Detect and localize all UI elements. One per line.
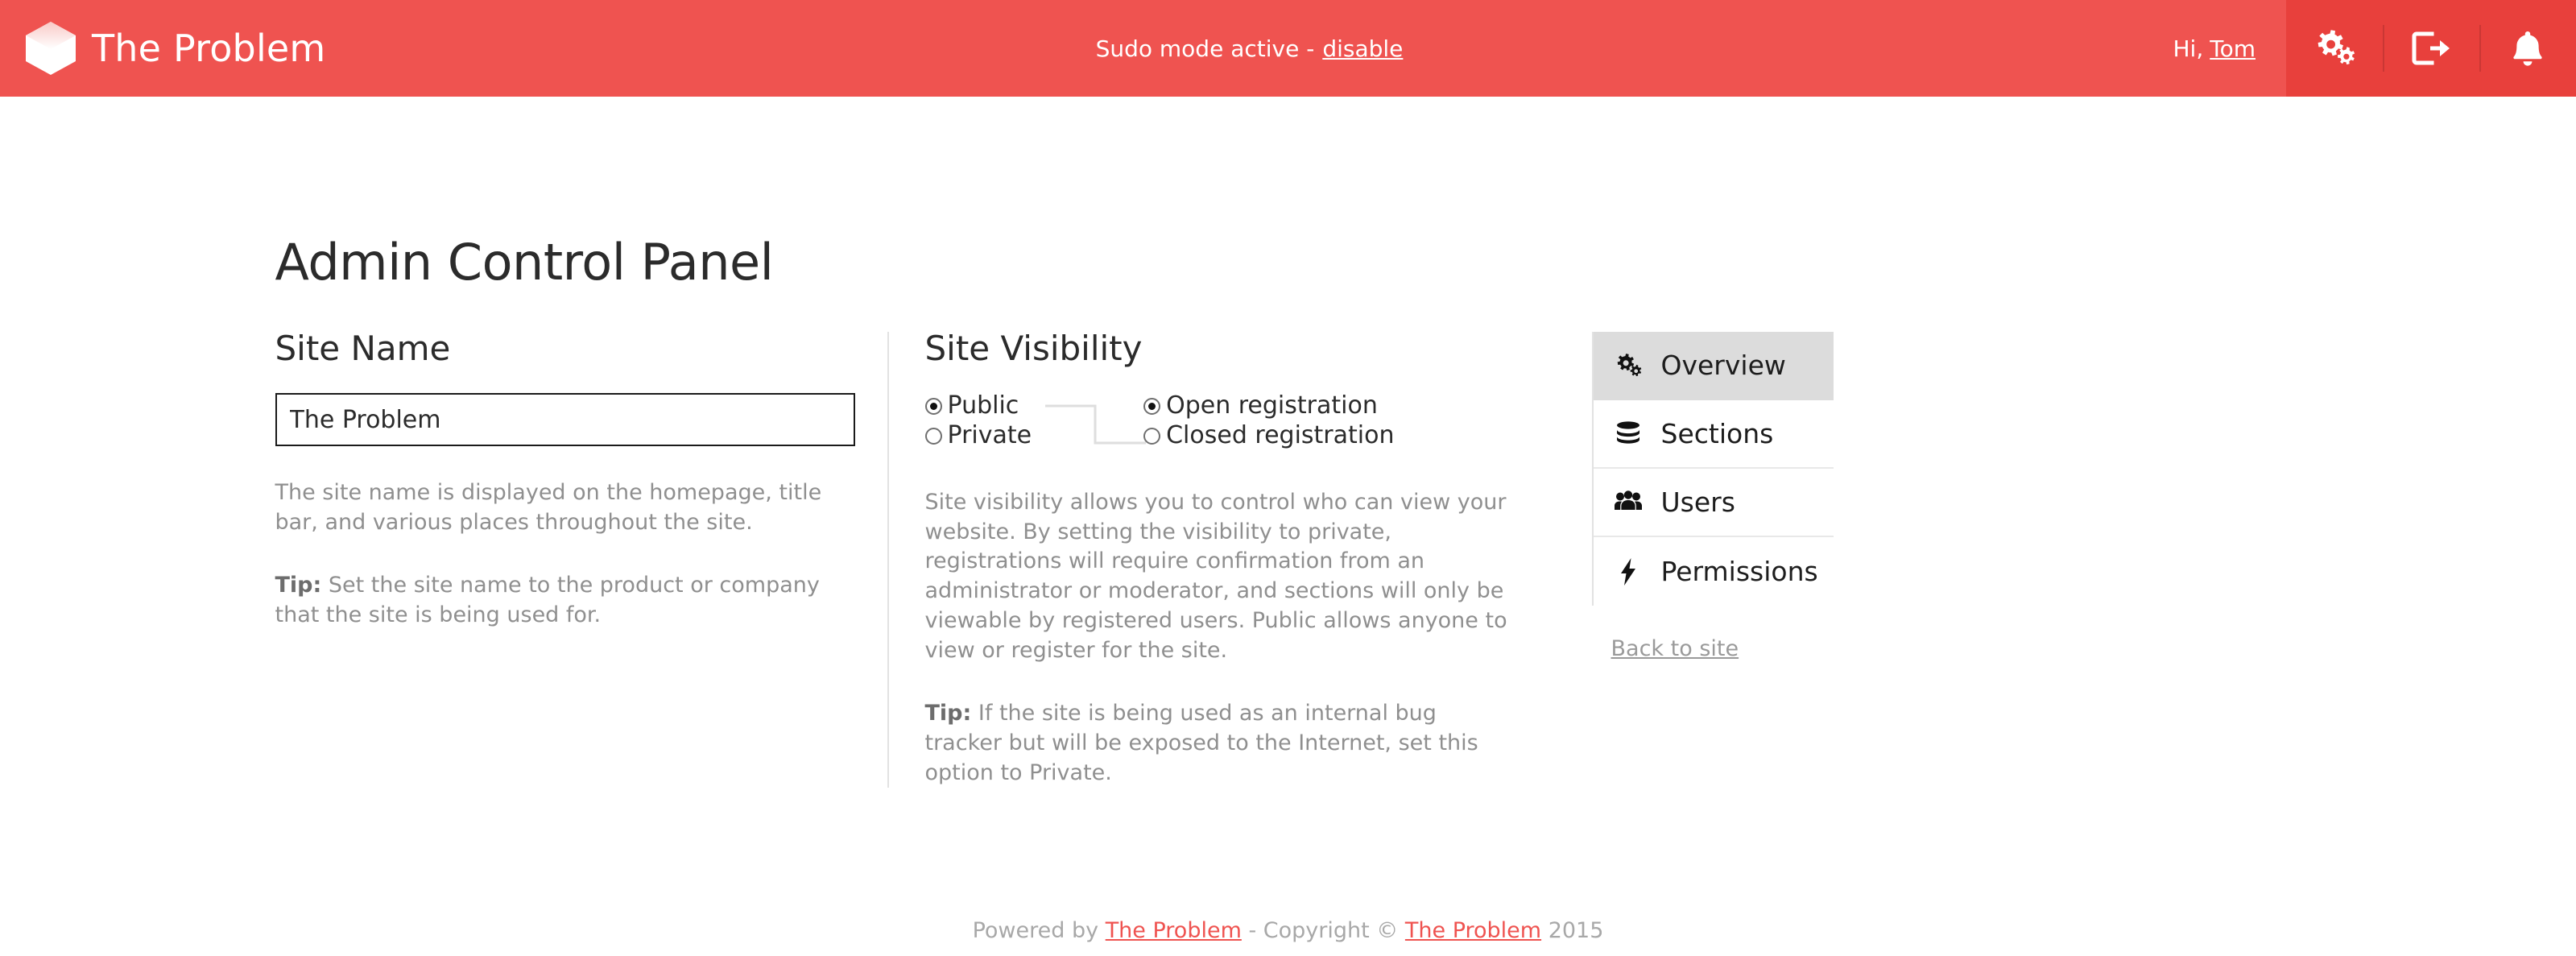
footer-copyright-link[interactable]: The Problem — [1405, 918, 1541, 943]
page-footer: Powered by The Problem - Copyright © The… — [275, 918, 2301, 943]
username-link[interactable]: Tom — [2210, 35, 2256, 62]
registration-radio-group: Open registration Closed registration — [1143, 393, 1394, 449]
notifications-button[interactable] — [2479, 0, 2576, 97]
cogs-icon — [2313, 30, 2355, 67]
users-icon — [1613, 490, 1644, 515]
page-container: Admin Control Panel Site Name The site n… — [275, 97, 2301, 788]
sidebar-item-users[interactable]: Users — [1594, 469, 1834, 537]
back-to-site-link[interactable]: Back to site — [1611, 636, 1739, 661]
site-name-panel: Site Name The site name is displayed on … — [275, 332, 887, 631]
database-icon — [1613, 421, 1644, 447]
page-title: Admin Control Panel — [275, 97, 2301, 288]
bell-icon — [2511, 30, 2545, 67]
brand[interactable]: The Problem — [0, 0, 325, 97]
site-visibility-description: Site visibility allows you to control wh… — [925, 488, 1513, 665]
brand-name: The Problem — [92, 27, 325, 70]
radio-private-label: Private — [948, 423, 1032, 449]
sudo-disable-link[interactable]: disable — [1322, 35, 1403, 62]
radio-closed-registration[interactable]: Closed registration — [1143, 423, 1394, 449]
sidebar-item-overview-label: Overview — [1661, 352, 1786, 379]
footer-copyright-separator: - Copyright © — [1248, 918, 1398, 943]
sidebar-item-users-label: Users — [1661, 489, 1735, 515]
radio-private-indicator[interactable] — [925, 428, 942, 445]
radio-group-connector-line — [1045, 404, 1146, 445]
admin-settings-button[interactable] — [2286, 0, 2383, 97]
footer-powered-link[interactable]: The Problem — [1106, 918, 1242, 943]
visibility-radio-area: Public Private Open registration — [925, 393, 1532, 456]
visibility-radio-group: Public Private — [925, 393, 1032, 449]
sidebar-item-sections-label: Sections — [1661, 420, 1774, 447]
bolt-icon — [1613, 558, 1644, 586]
cogs-icon — [1613, 354, 1644, 378]
admin-sidenav-column: Overview Sections — [1532, 332, 2301, 661]
radio-closed-registration-indicator[interactable] — [1143, 428, 1160, 445]
site-name-tip: Tip: Set the site name to the product or… — [275, 571, 855, 630]
site-visibility-heading: Site Visibility — [925, 332, 1532, 366]
site-name-description: The site name is displayed on the homepa… — [275, 478, 855, 537]
user-greeting: Hi, Tom — [2173, 0, 2287, 97]
radio-closed-registration-label: Closed registration — [1166, 423, 1394, 449]
logout-button[interactable] — [2383, 0, 2479, 97]
radio-open-registration-label: Open registration — [1166, 393, 1378, 419]
radio-open-registration[interactable]: Open registration — [1143, 393, 1394, 419]
site-visibility-tip-text: If the site is being used as an internal… — [925, 701, 1478, 784]
sign-out-icon — [2411, 31, 2451, 66]
footer-year: 2015 — [1548, 918, 1604, 943]
sidebar-item-permissions[interactable]: Permissions — [1594, 537, 1834, 606]
site-visibility-tip-label: Tip: — [925, 701, 972, 726]
cube-logo-icon — [26, 22, 76, 75]
radio-public[interactable]: Public — [925, 393, 1032, 419]
sudo-mode-banner: Sudo mode active - disable — [325, 0, 2173, 97]
sidebar-item-overview[interactable]: Overview — [1594, 332, 1834, 400]
site-name-tip-label: Tip: — [275, 573, 322, 598]
sidebar-item-permissions-label: Permissions — [1661, 558, 1818, 585]
site-name-heading: Site Name — [275, 332, 855, 366]
footer-powered-by-text: Powered by — [973, 918, 1099, 943]
radio-public-indicator[interactable] — [925, 398, 942, 415]
sudo-mode-text: Sudo mode active - — [1096, 35, 1315, 62]
greeting-prefix: Hi, — [2173, 35, 2204, 62]
admin-sidenav: Overview Sections — [1592, 332, 1834, 606]
site-visibility-panel: Site Visibility Public Private — [887, 332, 1532, 788]
admin-columns: Site Name The site name is displayed on … — [275, 332, 2301, 788]
site-name-input[interactable] — [275, 393, 855, 446]
site-visibility-tip: Tip: If the site is being used as an int… — [925, 699, 1513, 788]
header-actions — [2286, 0, 2576, 97]
radio-open-registration-indicator[interactable] — [1143, 398, 1160, 415]
sidebar-item-sections[interactable]: Sections — [1594, 400, 1834, 469]
radio-public-label: Public — [948, 393, 1019, 419]
radio-private[interactable]: Private — [925, 423, 1032, 449]
app-header: The Problem Sudo mode active - disable H… — [0, 0, 2576, 97]
site-name-tip-text: Set the site name to the product or comp… — [275, 573, 820, 627]
